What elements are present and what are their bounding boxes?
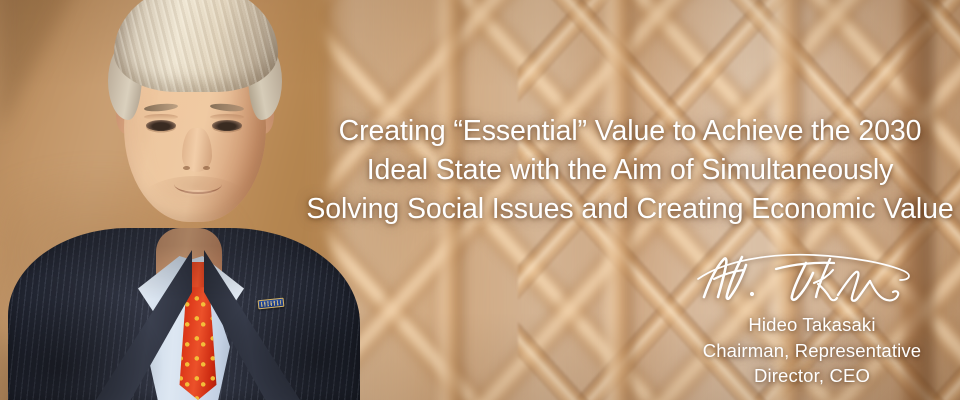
page-title: Creating “Essential” Value to Achieve th…: [300, 112, 960, 229]
eye-left: [146, 120, 176, 131]
headline-line-1: Creating “Essential” Value to Achieve th…: [300, 112, 960, 151]
hair-strands: [114, 0, 278, 92]
handwritten-signature-icon: [660, 248, 960, 310]
nostril-right: [203, 166, 210, 170]
signature-credit: Hideo Takasaki Chairman, Representative …: [664, 312, 960, 389]
headline-line-2: Ideal State with the Aim of Simultaneous…: [300, 151, 960, 190]
eye-right: [212, 120, 242, 131]
person-name: Hideo Takasaki: [664, 312, 960, 338]
ceo-message-hero-banner: Creating “Essential” Value to Achieve th…: [0, 0, 960, 400]
lower-lip-highlight: [176, 190, 220, 197]
person-title-line-1: Chairman, Representative: [664, 338, 960, 364]
suit-shading: [8, 228, 360, 400]
headline-line-3: Solving Social Issues and Creating Econo…: [300, 190, 960, 229]
person-title-line-2: Director, CEO: [664, 363, 960, 389]
nostril-left: [183, 166, 190, 170]
